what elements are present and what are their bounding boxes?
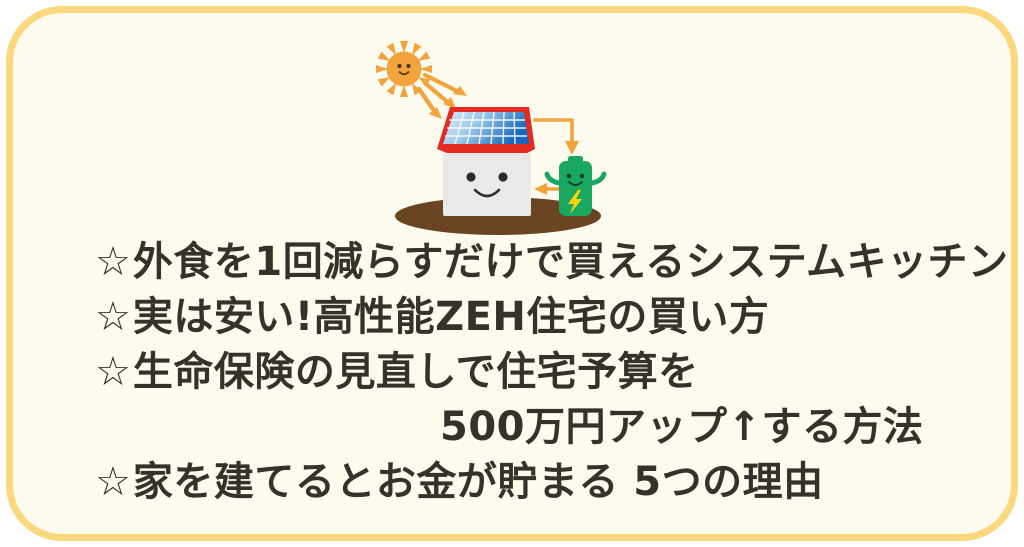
solar-panel-roof-frame — [437, 149, 535, 153]
charge-arrowhead — [565, 141, 579, 155]
house-eye-right — [498, 172, 507, 181]
headline-line-5: ☆家を建てるとお金が貯まる 5つの理由 — [95, 455, 1018, 510]
battery-eye-left — [567, 174, 572, 179]
star-bullet-icon: ☆ — [95, 459, 133, 505]
smiling-battery-character — [559, 161, 592, 216]
headline-line-5-text: 家を建てるとお金が貯まる 5つの理由 — [133, 459, 824, 505]
solar-house-battery-illustration — [363, 31, 625, 236]
headline-line-4: 500万円アップ↑する方法 — [95, 400, 1018, 455]
house-wall — [443, 153, 531, 216]
star-bullet-icon: ☆ — [95, 239, 133, 285]
headline-line-4-text: 500万円アップ↑する方法 — [440, 404, 924, 450]
headline-line-3-text: 生命保険の見直しで住宅予算を — [133, 349, 699, 395]
battery-eye-right — [580, 174, 585, 179]
promo-card: ☆外食を1回減らすだけで買えるシステムキッチン ☆実は安い!高性能ZEH住宅の買… — [6, 6, 1018, 541]
battery-arm-left — [547, 174, 559, 183]
sun-eye-right — [406, 64, 410, 68]
headline-line-2: ☆実は安い!高性能ZEH住宅の買い方 — [95, 290, 1018, 345]
headline-line-2-text: 実は安い!高性能ZEH住宅の買い方 — [133, 294, 770, 340]
smiling-sun — [387, 52, 422, 87]
headline-list: ☆外食を1回減らすだけで買えるシステムキッチン ☆実は安い!高性能ZEH住宅の買… — [13, 235, 1018, 510]
sun-eye-left — [397, 64, 401, 68]
discharge-arrowhead — [534, 183, 547, 195]
star-bullet-icon: ☆ — [95, 349, 133, 395]
battery-arm-right — [592, 174, 604, 183]
headline-line-3: ☆生命保険の見直しで住宅予算を — [95, 345, 1018, 400]
star-bullet-icon: ☆ — [95, 294, 133, 340]
headline-line-1: ☆外食を1回減らすだけで買えるシステムキッチン — [95, 235, 1018, 290]
house-eye-left — [466, 172, 475, 181]
headline-line-1-text: 外食を1回減らすだけで買えるシステムキッチン — [133, 239, 1009, 285]
